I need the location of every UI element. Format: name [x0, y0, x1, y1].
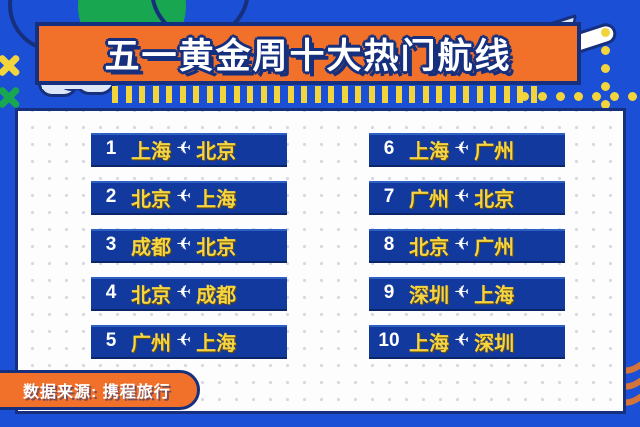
dot-row-decoration [520, 92, 640, 101]
route-destination: 广州 [474, 231, 514, 260]
route-origin: 上海 [409, 135, 449, 164]
route-destination: 广州 [474, 135, 514, 164]
airplane-icon: ✈ [452, 187, 471, 205]
route-origin: 北京 [131, 183, 171, 212]
route-pair: 上海✈深圳 [409, 327, 514, 356]
route-item: 3成都✈北京 [91, 229, 287, 263]
route-rank: 1 [91, 138, 131, 160]
route-origin: 深圳 [409, 279, 449, 308]
route-rank: 9 [369, 282, 409, 304]
airplane-icon: ✈ [452, 139, 471, 157]
airplane-icon: ✈ [174, 283, 193, 301]
route-item: 4北京✈成都 [91, 277, 287, 311]
x-mark-green-icon [0, 84, 22, 110]
airplane-icon: ✈ [174, 235, 193, 253]
route-rank: 7 [369, 186, 409, 208]
route-pair: 广州✈上海 [131, 327, 236, 356]
route-origin: 北京 [409, 231, 449, 260]
airplane-icon: ✈ [452, 331, 471, 349]
route-origin: 广州 [131, 327, 171, 356]
route-origin: 北京 [131, 279, 171, 308]
route-destination: 北京 [474, 183, 514, 212]
route-item: 5广州✈上海 [91, 325, 287, 359]
route-origin: 广州 [409, 183, 449, 212]
route-item: 9深圳✈上海 [369, 277, 565, 311]
route-pair: 上海✈北京 [131, 135, 236, 164]
route-rank: 3 [91, 234, 131, 256]
route-rank: 6 [369, 138, 409, 160]
route-rank: 2 [91, 186, 131, 208]
route-rank: 10 [369, 330, 409, 352]
route-origin: 上海 [409, 327, 449, 356]
route-origin: 上海 [131, 135, 171, 164]
routes-card: 1上海✈北京2北京✈上海3成都✈北京4北京✈成都5广州✈上海 6上海✈广州7广州… [15, 108, 626, 414]
route-pair: 北京✈成都 [131, 279, 236, 308]
x-mark-yellow-icon [0, 52, 22, 78]
route-item: 6上海✈广州 [369, 133, 565, 167]
route-item: 10上海✈深圳 [369, 325, 565, 359]
airplane-icon: ✈ [452, 235, 471, 253]
airplane-icon: ✈ [452, 283, 471, 301]
route-rank: 8 [369, 234, 409, 256]
title-banner: 五一黄金周十大热门航线 [35, 22, 581, 85]
airplane-icon: ✈ [174, 331, 193, 349]
data-source-badge: 数据来源: 携程旅行 [0, 370, 200, 410]
page-title: 五一黄金周十大热门航线 [104, 28, 511, 79]
data-source-label: 数据来源: 携程旅行 [23, 378, 171, 402]
routes-column-right: 6上海✈广州7广州✈北京8北京✈广州9深圳✈上海10上海✈深圳 [345, 133, 623, 411]
route-pair: 北京✈广州 [409, 231, 514, 260]
route-destination: 上海 [474, 279, 514, 308]
route-destination: 成都 [196, 279, 236, 308]
route-pair: 上海✈广州 [409, 135, 514, 164]
route-pair: 广州✈北京 [409, 183, 514, 212]
route-pair: 深圳✈上海 [409, 279, 514, 308]
route-destination: 北京 [196, 231, 236, 260]
route-item: 2北京✈上海 [91, 181, 287, 215]
airplane-icon: ✈ [174, 139, 193, 157]
route-item: 7广州✈北京 [369, 181, 565, 215]
airplane-icon: ✈ [174, 187, 193, 205]
infographic-poster: 五一黄金周十大热门航线 1上海✈北京2北京✈上海3成都✈北京4北京✈成都5广州✈… [0, 0, 640, 427]
route-destination: 上海 [196, 183, 236, 212]
route-rank: 4 [91, 282, 131, 304]
route-destination: 北京 [196, 135, 236, 164]
route-destination: 深圳 [474, 327, 514, 356]
route-item: 1上海✈北京 [91, 133, 287, 167]
route-pair: 北京✈上海 [131, 183, 236, 212]
route-origin: 成都 [131, 231, 171, 260]
route-rank: 5 [91, 330, 131, 352]
route-item: 8北京✈广州 [369, 229, 565, 263]
route-pair: 成都✈北京 [131, 231, 236, 260]
tick-marks-decoration [112, 86, 537, 103]
route-destination: 上海 [196, 327, 236, 356]
